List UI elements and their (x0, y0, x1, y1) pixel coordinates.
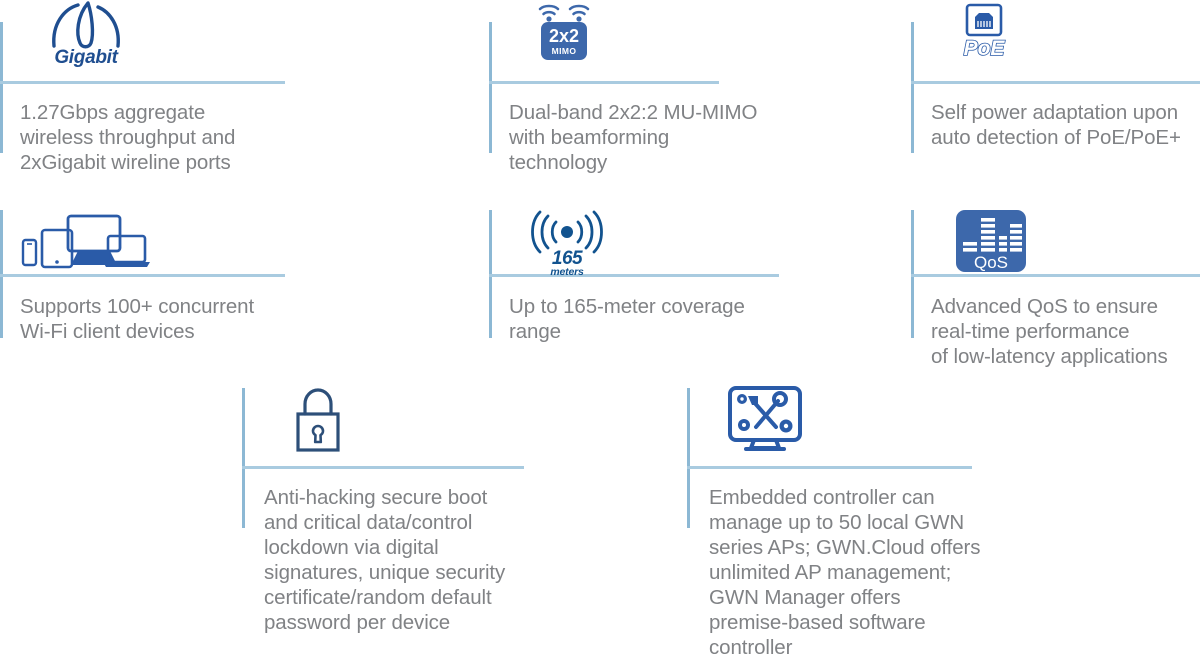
feature-caption: Embedded controller can manage up to 50 … (709, 485, 999, 660)
feature-card-advanced-qos: QoS Advanced QoS to ensure real-time per… (911, 210, 1200, 370)
divider-horizontal-rule (911, 81, 1200, 84)
feature-card-concurrent-clients: Supports 100+ concurrent Wi-Fi client de… (0, 210, 285, 370)
signal-range-icon: 165 meters (531, 210, 603, 278)
accent-vertical-rule (242, 388, 245, 528)
range-icon-number: 165 (552, 250, 582, 267)
feature-card-coverage-range: 165 meters Up to 165-meter coverage rang… (489, 210, 779, 370)
feature-caption: Up to 165-meter coverage range (509, 294, 799, 344)
feature-grid: Gigabit 1.27Gbps aggregate wireless thro… (0, 0, 1200, 638)
feature-card-mu-mimo: 2x2 MIMO Dual-band 2x2:2 MU-MIMO with be… (489, 22, 719, 192)
svg-text:2x2: 2x2 (549, 26, 579, 46)
padlock-icon (290, 386, 346, 461)
accent-vertical-rule (911, 22, 914, 153)
2x2-mimo-icon: 2x2 MIMO (531, 0, 597, 67)
gigabit-antenna-icon: Gigabit (48, 0, 124, 69)
feature-caption: Dual-band 2x2:2 MU-MIMO with beamforming… (509, 100, 809, 175)
divider-horizontal-rule (0, 81, 285, 84)
feature-caption: Supports 100+ concurrent Wi-Fi client de… (20, 294, 300, 344)
feature-card-gigabit-throughput: Gigabit 1.27Gbps aggregate wireless thro… (0, 22, 285, 192)
poe-icon-label: PoE (964, 38, 1005, 60)
feature-card-poe-adaptation: PoE Self power adaptation upon auto dete… (911, 22, 1200, 192)
svg-text:QoS: QoS (974, 253, 1008, 272)
multi-device-icon (20, 212, 150, 275)
feature-caption: 1.27Gbps aggregate wireless throughput a… (20, 100, 285, 175)
feature-caption: Anti-hacking secure boot and critical da… (264, 485, 539, 635)
accent-vertical-rule (0, 22, 3, 153)
feature-card-secure-boot: Anti-hacking secure boot and critical da… (242, 388, 524, 638)
monitor-tools-icon (724, 384, 806, 459)
divider-horizontal-rule (687, 466, 972, 469)
range-icon-unit: meters (550, 267, 583, 278)
svg-text:MIMO: MIMO (552, 46, 577, 56)
accent-vertical-rule (489, 22, 492, 153)
feature-caption: Advanced QoS to ensure real-time perform… (931, 294, 1200, 369)
poe-port-icon: PoE (961, 0, 1007, 60)
divider-horizontal-rule (489, 81, 719, 84)
feature-card-embedded-controller: Embedded controller can manage up to 50 … (687, 388, 972, 638)
accent-vertical-rule (687, 388, 690, 528)
gigabit-icon-label: Gigabit (54, 47, 117, 69)
feature-caption: Self power adaptation upon auto detectio… (931, 100, 1200, 150)
qos-equalizer-icon: QoS (953, 208, 1029, 279)
divider-horizontal-rule (242, 466, 524, 469)
